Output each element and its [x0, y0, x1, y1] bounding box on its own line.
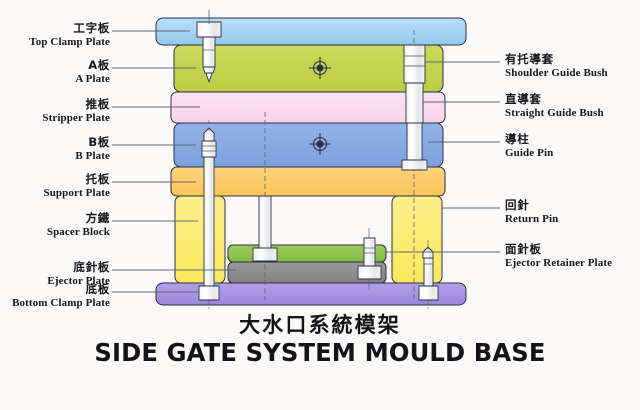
guide-pin-head: [402, 160, 427, 170]
label-a-plate-cn: A板: [0, 59, 110, 73]
label-ejector-retainer-plate: 面針板 Ejector Retainer Plate: [505, 243, 612, 270]
ejector-pin-head: [253, 248, 277, 261]
diagram-title-cn: 大水口系統模架: [0, 312, 640, 338]
label-straight-guide-bush-en: Straight Guide Bush: [505, 107, 604, 120]
spacer-block-right: [392, 196, 442, 283]
label-return-pin: 回針 Return Pin: [505, 199, 558, 226]
straight-guide-bush: [406, 83, 423, 123]
return-pin-collar-left: [202, 141, 216, 157]
label-a-plate: A板 A Plate: [0, 59, 110, 86]
label-support-plate: 托板 Support Plate: [0, 173, 110, 200]
label-b-plate-cn: B板: [0, 136, 110, 150]
label-bottom-clamp-plate-cn: 底板: [0, 283, 110, 297]
label-straight-guide-bush-cn: 直導套: [505, 93, 604, 107]
label-guide-pin-en: Guide Pin: [505, 147, 553, 160]
plate-stripper: [171, 92, 445, 123]
label-ejector-plate-cn: 底針板: [0, 261, 110, 275]
label-shoulder-guide-bush-en: Shoulder Guide Bush: [505, 67, 608, 80]
label-a-plate-en: A Plate: [0, 73, 110, 86]
label-shoulder-guide-bush: 有托導套 Shoulder Guide Bush: [505, 53, 608, 80]
cap-screw-shank: [203, 37, 215, 67]
label-return-pin-en: Return Pin: [505, 213, 558, 226]
label-top-clamp-plate-cn: 工字板: [0, 22, 110, 36]
label-spacer-block-cn: 方鐵: [0, 212, 110, 226]
label-support-plate-en: Support Plate: [0, 187, 110, 200]
label-bottom-clamp-plate-en: Bottom Clamp Plate: [0, 297, 110, 310]
ejector-pin-shaft: [259, 196, 271, 248]
cap-screw-head: [197, 22, 221, 37]
cap-screw-tip: [203, 67, 215, 73]
diagram-title-en: SIDE GATE SYSTEM MOULD BASE: [10, 338, 631, 369]
label-b-plate-en: B Plate: [0, 150, 110, 163]
plate-ejector-retainer: [228, 245, 386, 262]
bottom-screw-head: [419, 286, 438, 300]
guide-pin-shaft: [407, 123, 422, 165]
label-stripper-plate: 推板 Stripper Plate: [0, 98, 110, 125]
return-pin-shaft-right: [364, 238, 375, 266]
label-support-plate-cn: 托板: [0, 173, 110, 187]
label-guide-pin: 導柱 Guide Pin: [505, 133, 553, 160]
label-shoulder-guide-bush-cn: 有托導套: [505, 53, 608, 67]
bottom-screw-shank: [424, 258, 433, 286]
label-spacer-block: 方鐵 Spacer Block: [0, 212, 110, 239]
label-stripper-plate-cn: 推板: [0, 98, 110, 112]
label-return-pin-cn: 回針: [505, 199, 558, 213]
return-pin-head-right: [358, 266, 381, 279]
shoulder-guide-bush: [404, 45, 425, 83]
label-ejector-retainer-plate-cn: 面針板: [505, 243, 612, 257]
label-top-clamp-plate: 工字板 Top Clamp Plate: [0, 22, 110, 49]
label-spacer-block-en: Spacer Block: [0, 226, 110, 239]
ejector-pin-center: [253, 196, 277, 261]
label-straight-guide-bush: 直導套 Straight Guide Bush: [505, 93, 604, 120]
label-ejector-retainer-plate-en: Ejector Retainer Plate: [505, 257, 612, 270]
label-guide-pin-cn: 導柱: [505, 133, 553, 147]
diagram-title: 大水口系統模架 SIDE GATE SYSTEM MOULD BASE: [0, 312, 640, 369]
label-b-plate: B板 B Plate: [0, 136, 110, 163]
label-stripper-plate-en: Stripper Plate: [0, 112, 110, 125]
label-bottom-clamp-plate: 底板 Bottom Clamp Plate: [0, 283, 110, 310]
label-top-clamp-plate-en: Top Clamp Plate: [0, 36, 110, 49]
return-pin-foot-left: [199, 286, 219, 300]
